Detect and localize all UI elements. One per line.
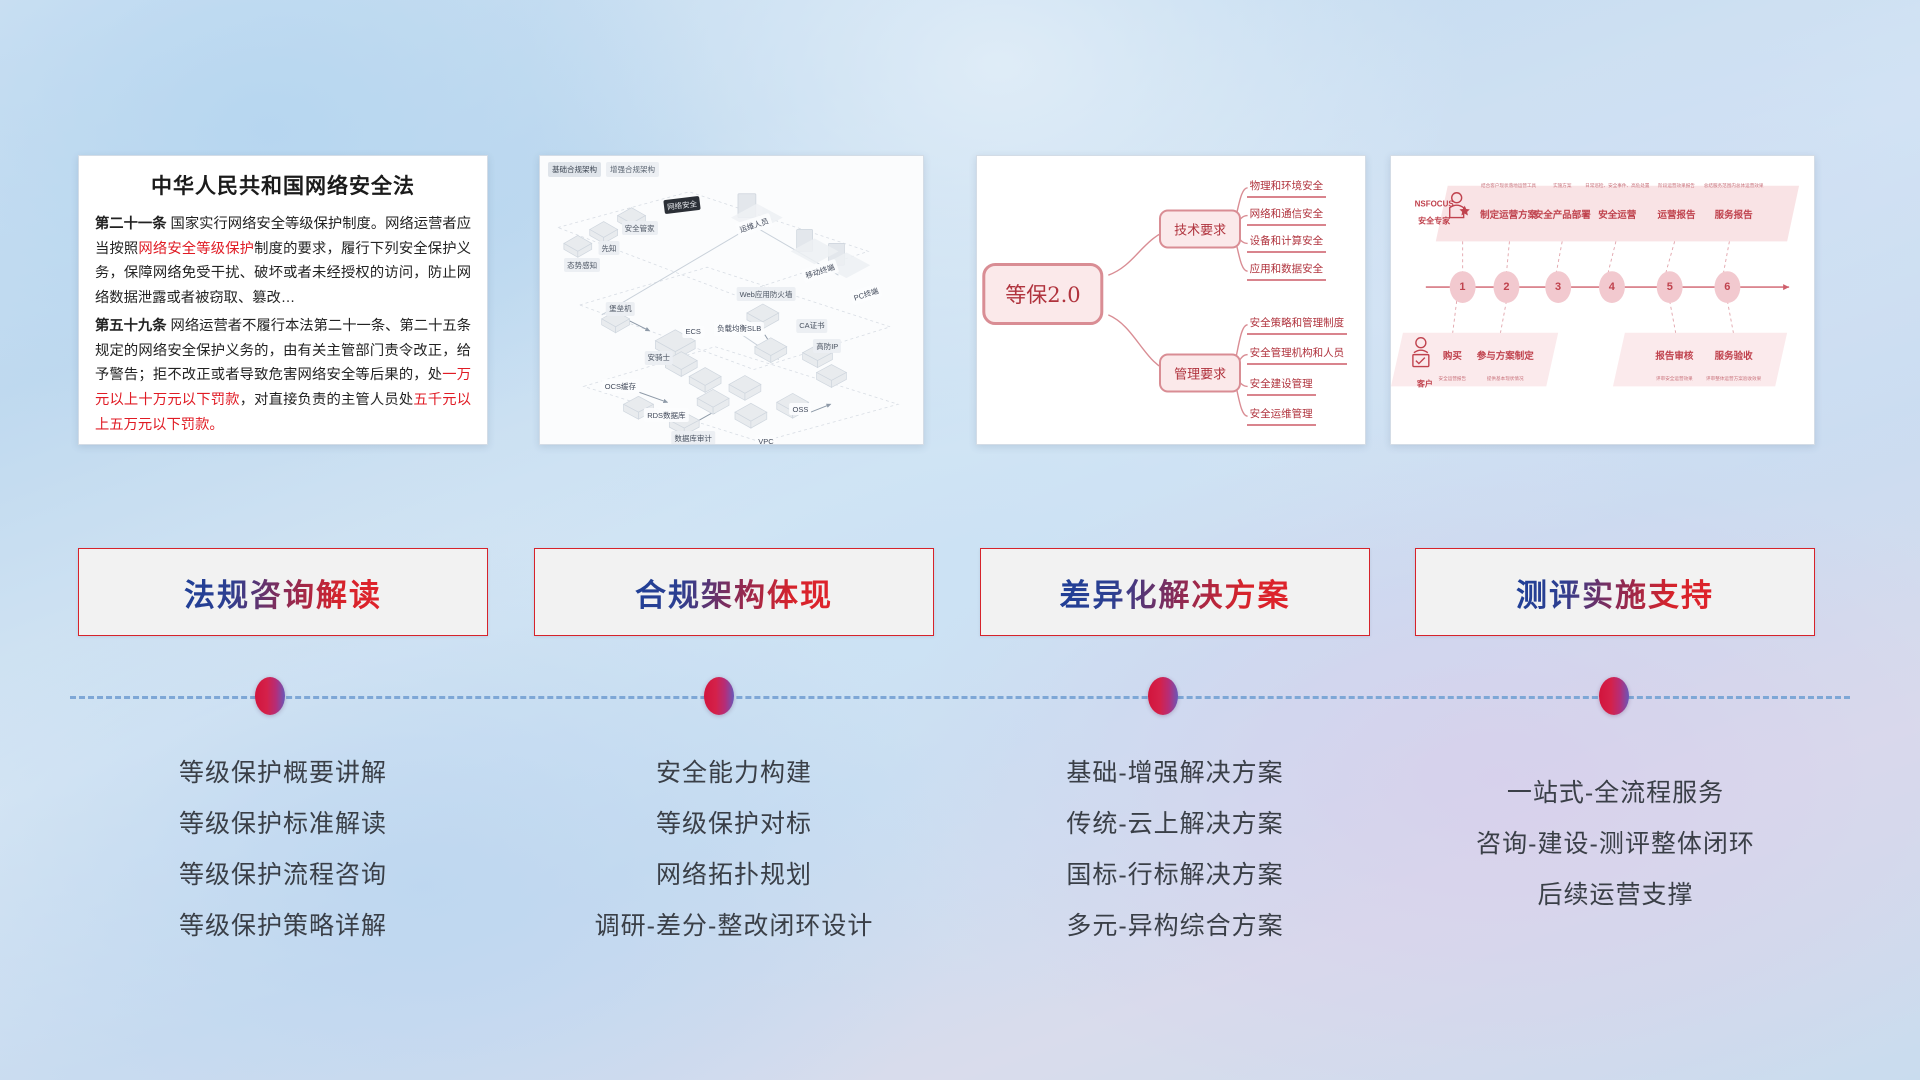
column-items-4: 一站式-全流程服务 咨询-建设-测评整体闭环 后续运营支撑 <box>1408 768 1823 921</box>
arch-node-label: 安全管家 <box>622 221 658 235</box>
column-items-3: 基础-增强解决方案 传统-云上解决方案 国标-行标解决方案 多元-异构综合方案 <box>980 748 1370 952</box>
card-roadmap: NSFOCUS 安全专家 客户 制定运营方案 结合客户现状落地运营工具 安全产品… <box>1390 155 1815 445</box>
roadmap-bottom-step-sub: 评审安全运营效果 <box>1656 376 1693 382</box>
mindmap-leaf: 应用和数据安全 <box>1247 261 1327 281</box>
column-title-box-4[interactable]: 测评实施支持 <box>1415 548 1815 636</box>
roadmap-bottom-step-sub: 安全运营报告 <box>1439 376 1467 382</box>
list-item: 国标-行标解决方案 <box>980 850 1370 901</box>
law-body: 中华人民共和国网络安全法 第二十一条 国家实行网络安全等级保护制度。网络运营者应… <box>79 156 487 445</box>
roadmap-top-step-sub: 阶段运营效果报告 <box>1658 183 1695 189</box>
column-title-box-1[interactable]: 法规咨询解读 <box>78 548 488 636</box>
roadmap-step-number: 3 <box>1555 281 1561 293</box>
list-item: 等级保护对标 <box>534 799 934 850</box>
arch-node-label: 先知 <box>598 241 619 255</box>
list-item: 等级保护策略详解 <box>78 901 488 952</box>
roadmap-step-number: 2 <box>1503 281 1509 293</box>
arch-node-label: ECS <box>682 326 703 338</box>
mindmap-diagram: 等保2.0 技术要求 物理和环境安全 网络和通信安全 设备和计算安全 应用和数据… <box>977 156 1365 444</box>
roadmap-expert-label-line1: NSFOCUS <box>1415 199 1454 208</box>
arch-node-label: Web应用防火墙 <box>737 287 796 301</box>
law-article-21-highlight: 网络安全等级保护 <box>138 241 254 257</box>
column-title-4: 测评实施支持 <box>1516 570 1714 615</box>
arch-node-label: 负载均衡SLB <box>714 322 764 336</box>
timeline-dot-4 <box>1599 677 1629 715</box>
arch-node-label: OSS <box>790 403 812 415</box>
law-article-21: 第二十一条 国家实行网络安全等级保护制度。网络运营者应当按照网络安全等级保护制度… <box>95 212 471 310</box>
roadmap-top-step-sub: 日常巡检、安全事件、高危处置 <box>1585 183 1649 189</box>
poster-stage: 中华人民共和国网络安全法 第二十一条 国家实行网络安全等级保护制度。网络运营者应… <box>0 0 1920 1080</box>
mindmap-leaf: 安全策略和管理制度 <box>1247 315 1348 335</box>
mindmap-leaf: 物理和环境安全 <box>1247 178 1327 198</box>
roadmap-top-step-sub: 实施方案 <box>1553 183 1571 189</box>
column-title-box-2[interactable]: 合规架构体现 <box>534 548 934 636</box>
roadmap-top-step-title: 服务报告 <box>1715 207 1753 221</box>
list-item: 调研-差分-整改闭环设计 <box>534 901 934 952</box>
list-item: 一站式-全流程服务 <box>1408 768 1823 819</box>
mindmap-leaf: 安全建设管理 <box>1247 376 1316 396</box>
list-item: 等级保护标准解读 <box>78 799 488 850</box>
mindmap-leaf: 安全管理机构和人员 <box>1247 345 1348 365</box>
list-item: 传统-云上解决方案 <box>980 799 1370 850</box>
list-item: 等级保护流程咨询 <box>78 850 488 901</box>
roadmap-top-step-sub: 结合客户现状落地运营工具 <box>1481 183 1536 189</box>
law-article-21-label: 第二十一条 <box>95 216 167 232</box>
roadmap-step-number: 5 <box>1667 281 1673 293</box>
list-item: 等级保护概要讲解 <box>78 748 488 799</box>
architecture-diagram: 基础合规架构 增强合规架构 <box>540 156 923 444</box>
timeline-dot-1 <box>255 677 285 715</box>
arch-node-label: 堡垒机 <box>606 302 635 316</box>
roadmap-step-number: 1 <box>1459 281 1465 293</box>
timeline-rail <box>70 696 1850 699</box>
arch-node-label: OCS缓存 <box>602 379 639 393</box>
column-title-2: 合规架构体现 <box>635 570 833 615</box>
law-article-59: 第五十九条 网络运营者不履行本法第二十一条、第二十五条规定的网络安全保护义务的，… <box>95 314 471 437</box>
roadmap-diagram: NSFOCUS 安全专家 客户 制定运营方案 结合客户现状落地运营工具 安全产品… <box>1391 156 1814 444</box>
roadmap-step-number: 6 <box>1724 281 1730 293</box>
roadmap-bottom-step-title: 购买 <box>1443 348 1462 362</box>
arch-node-label: CA证书 <box>796 319 827 333</box>
roadmap-bottom-step-title: 报告审核 <box>1655 348 1693 362</box>
roadmap-graphics <box>1391 156 1814 444</box>
mindmap-root: 等保2.0 <box>982 263 1103 325</box>
timeline-dot-3 <box>1148 677 1178 715</box>
roadmap-bottom-step-sub: 提供基本现状情况 <box>1487 376 1524 382</box>
roadmap-expert-label-line2: 安全专家 <box>1418 215 1450 226</box>
roadmap-top-step-title: 安全产品部署 <box>1534 207 1591 221</box>
column-title-3: 差异化解决方案 <box>1060 570 1291 615</box>
mindmap-branch-technical: 技术要求 <box>1159 210 1241 249</box>
law-title: 中华人民共和国网络安全法 <box>95 170 471 200</box>
list-item: 安全能力构建 <box>534 748 934 799</box>
roadmap-top-step-title: 运营报告 <box>1658 207 1696 221</box>
mindmap-leaf: 安全运维管理 <box>1247 406 1316 426</box>
roadmap-step-number: 4 <box>1609 281 1615 293</box>
mindmap-leaf: 网络和通信安全 <box>1247 206 1327 226</box>
column-title-1: 法规咨询解读 <box>184 570 382 615</box>
list-item: 咨询-建设-测评整体闭环 <box>1408 819 1823 870</box>
arch-node-label: 数据库审计 <box>671 431 715 445</box>
law-article-59-label: 第五十九条 <box>95 318 167 334</box>
roadmap-top-step-title: 制定运营方案 <box>1480 207 1537 221</box>
column-items-1: 等级保护概要讲解 等级保护标准解读 等级保护流程咨询 等级保护策略详解 <box>78 748 488 952</box>
list-item: 基础-增强解决方案 <box>980 748 1370 799</box>
roadmap-customer-label: 客户 <box>1417 378 1433 389</box>
card-law-text: 中华人民共和国网络安全法 第二十一条 国家实行网络安全等级保护制度。网络运营者应… <box>78 155 488 445</box>
list-item: 网络拓扑规划 <box>534 850 934 901</box>
roadmap-top-step-sub: 总结服务范围内总体运营效果 <box>1704 183 1764 189</box>
list-item: 多元-异构综合方案 <box>980 901 1370 952</box>
law-article-59-mid: ，对直接负责的主管人员处 <box>240 392 414 408</box>
list-item: 后续运营支撑 <box>1408 870 1823 921</box>
mindmap-leaf: 设备和计算安全 <box>1247 233 1327 253</box>
mindmap-branch-management: 管理要求 <box>1159 353 1241 392</box>
column-items-2: 安全能力构建 等级保护对标 网络拓扑规划 调研-差分-整改闭环设计 <box>534 748 934 952</box>
timeline-dot-2 <box>704 677 734 715</box>
roadmap-bottom-step-sub: 评审整体运营方案验收效果 <box>1706 376 1761 382</box>
arch-node-label: 安骑士 <box>644 351 673 365</box>
arch-node-label: VPC <box>755 435 776 445</box>
card-cloud-architecture: 基础合规架构 增强合规架构 <box>539 155 924 445</box>
roadmap-bottom-step-title: 服务验收 <box>1715 348 1753 362</box>
column-title-box-3[interactable]: 差异化解决方案 <box>980 548 1370 636</box>
roadmap-bottom-step-title: 参与方案制定 <box>1477 348 1534 362</box>
card-mindmap: 等保2.0 技术要求 物理和环境安全 网络和通信安全 设备和计算安全 应用和数据… <box>976 155 1366 445</box>
arch-node-label: 态势感知 <box>564 258 600 272</box>
arch-node-label: 高防IP <box>813 339 841 353</box>
arch-node-label: RDS数据库 <box>644 408 688 422</box>
roadmap-top-step-title: 安全运营 <box>1598 207 1636 221</box>
